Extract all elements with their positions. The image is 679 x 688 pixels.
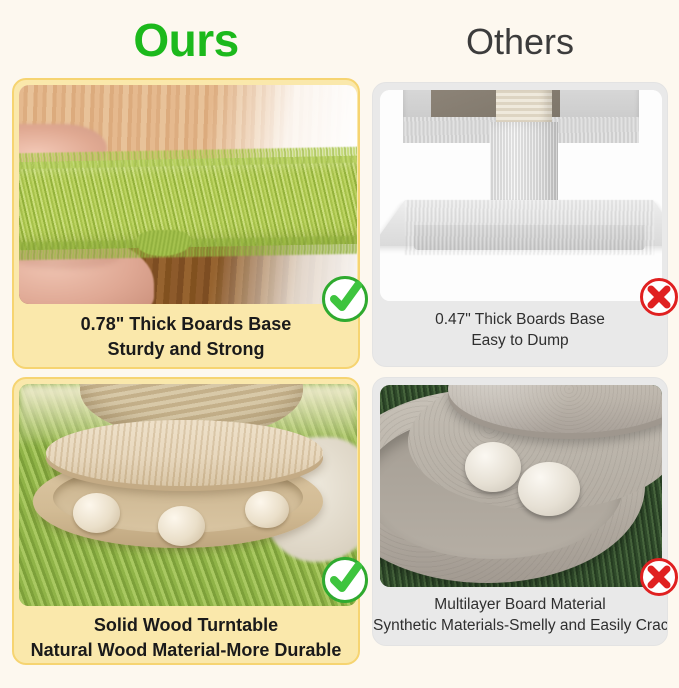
photo-art-wood-turntable (19, 384, 357, 606)
column-header-ours: Ours (12, 12, 360, 68)
wooden-ball (158, 506, 205, 546)
comparison-card-ours-turntable: Solid Wood Turntable Natural Wood Materi… (12, 377, 360, 665)
cross-icon (640, 278, 678, 316)
plastic-ball (518, 462, 580, 517)
caption-ours-thickness: 0.78" Thick Boards Base Sturdy and Stron… (14, 312, 358, 362)
photo-art-thin-base (380, 90, 662, 301)
product-photo-others-multilayer-board (380, 385, 662, 587)
caption-line-1: 0.47" Thick Boards Base (373, 309, 667, 330)
caption-line-1: Solid Wood Turntable (14, 613, 358, 638)
cross-icon (640, 558, 678, 596)
caption-line-2: Natural Wood Material-More Durable (14, 638, 358, 663)
check-icon (322, 557, 368, 603)
caption-line-1: 0.78" Thick Boards Base (14, 312, 358, 337)
base-fur-texture (405, 200, 653, 255)
comparison-card-ours-thickness: 0.78" Thick Boards Base Sturdy and Stron… (12, 78, 360, 369)
comparison-header: Ours Others (0, 0, 679, 78)
caption-line-2: Easy to Dump (373, 330, 667, 351)
column-header-others: Others (372, 16, 668, 68)
caption-line-2: Synthetic Materials-Smelly and Easily Cr… (373, 615, 667, 636)
product-photo-ours-thick-board (19, 85, 357, 304)
check-icon (322, 276, 368, 322)
comparison-card-others-thickness: 0.47" Thick Boards Base Easy to Dump (372, 82, 668, 367)
product-photo-ours-wood-turntable (19, 384, 357, 606)
photo-art-multilayer-board (380, 385, 662, 587)
sisal-rope-section (496, 90, 552, 126)
plastic-ball (465, 442, 521, 493)
product-photo-others-thin-base (380, 90, 662, 301)
caption-line-2: Sturdy and Strong (14, 337, 358, 362)
caption-others-thickness: 0.47" Thick Boards Base Easy to Dump (373, 309, 667, 351)
wooden-ball (73, 493, 120, 533)
caption-others-turntable: Multilayer Board Material Synthetic Mate… (373, 594, 667, 636)
caption-ours-turntable: Solid Wood Turntable Natural Wood Materi… (14, 613, 358, 663)
photo-art-thick-board (19, 85, 357, 304)
caption-line-1: Multilayer Board Material (373, 594, 667, 615)
turntable-upper-disc (46, 420, 323, 487)
comparison-card-others-turntable: Multilayer Board Material Synthetic Mate… (372, 377, 668, 646)
